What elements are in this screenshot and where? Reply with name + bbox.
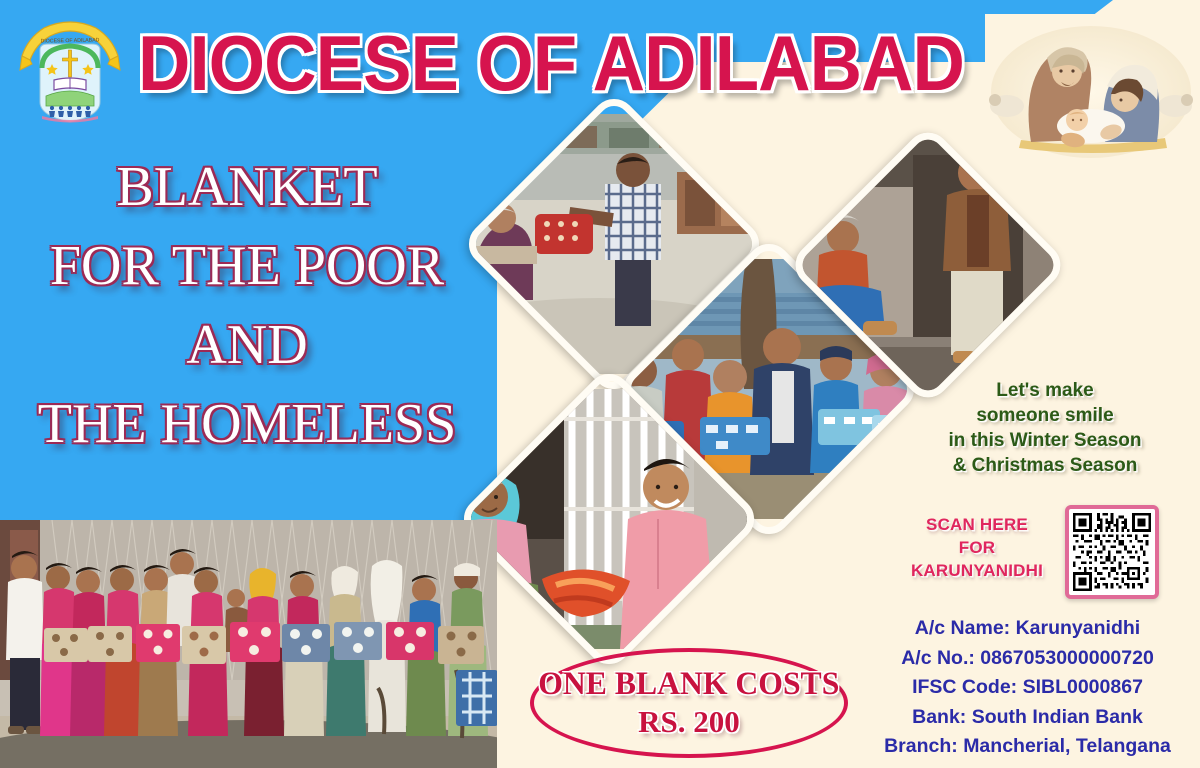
campaign-headline: BLANKET FOR THE POOR AND THE HOMELESS [22, 148, 472, 464]
headline-line-4: THE HOMELESS [22, 385, 472, 464]
photo-collage [470, 110, 1030, 560]
svg-text:DIOCESE OF ADILABAD: DIOCESE OF ADILABAD [41, 37, 100, 44]
headline-line-3: AND [22, 306, 472, 385]
bank-details: A/c Name: Karunyanidhi A/c No.: 08670530… [855, 614, 1200, 762]
bank-account-number: A/c No.: 0867053000000720 [855, 644, 1200, 674]
page-title: DIOCESE OF ADILABAD [138, 20, 919, 108]
smile-line-4: & Christmas Season [900, 453, 1190, 478]
smile-line-3: in this Winter Season [900, 428, 1190, 453]
price-amount: RS. 200 [638, 703, 740, 741]
bank-name: Bank: South Indian Bank [855, 703, 1200, 733]
scan-line-1: SCAN HERE [893, 513, 1061, 536]
smile-message: Let's make someone smile in this Winter … [900, 378, 1190, 478]
diocese-crest-icon: DIOCESE OF ADILABAD [18, 20, 122, 126]
photo-women-holding-blankets [0, 520, 497, 768]
scan-instruction: SCAN HERE FOR KARUNYANIDHI [893, 513, 1061, 582]
price-label: ONE BLANK COSTS [538, 665, 839, 703]
price-badge: ONE BLANK COSTS RS. 200 [530, 648, 848, 758]
bank-ifsc-code: IFSC Code: SIBL0000867 [855, 673, 1200, 703]
headline-line-2: FOR THE POOR [22, 227, 472, 306]
smile-line-1: Let's make [900, 378, 1190, 403]
qr-code-icon[interactable] [1065, 505, 1159, 599]
scan-line-3: KARUNYANIDHI [893, 559, 1061, 582]
bank-account-name: A/c Name: Karunyanidhi [855, 614, 1200, 644]
scan-section: SCAN HERE FOR KARUNYANIDHI [893, 505, 1193, 603]
poster-canvas: DIOCESE OF ADILABAD [0, 0, 1200, 768]
scan-line-2: FOR [893, 536, 1061, 559]
smile-line-2: someone smile [900, 403, 1190, 428]
headline-line-1: BLANKET [22, 148, 472, 227]
bank-branch: Branch: Mancherial, Telangana [855, 732, 1200, 762]
